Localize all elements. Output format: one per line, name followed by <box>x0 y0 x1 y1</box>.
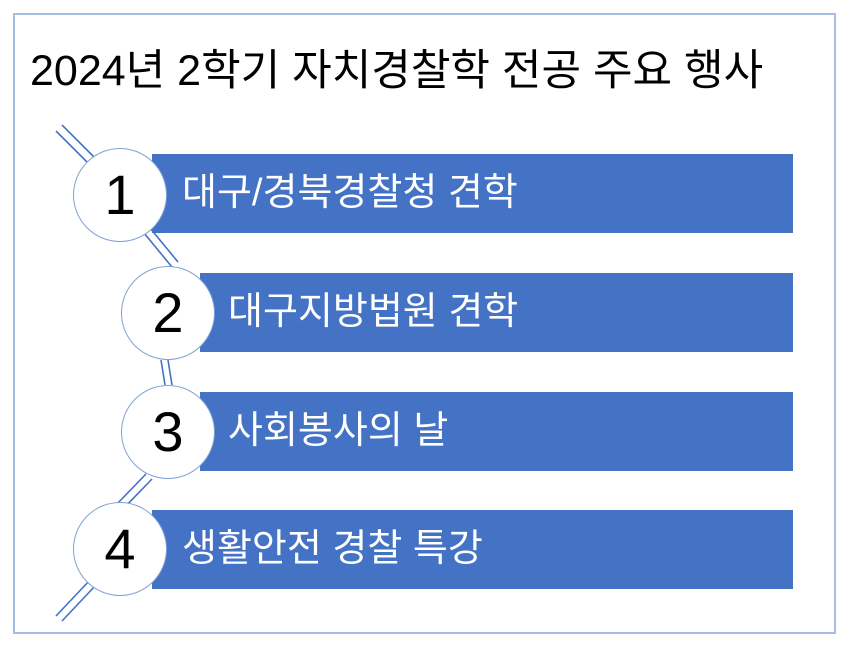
slide-canvas: 2024년 2학기 자치경찰학 전공 주요 행사 대구/경북경찰청 견학 1 대… <box>0 0 848 649</box>
step-number-1: 1 <box>73 148 167 242</box>
step-number-4: 4 <box>73 502 167 596</box>
step-label-2: 대구지방법원 견학 <box>228 273 518 352</box>
step-label-4: 생활안전 경찰 특강 <box>182 510 483 589</box>
step-label-1: 대구/경북경찰청 견학 <box>182 154 518 233</box>
step-number-3: 3 <box>121 385 215 479</box>
step-label-3: 사회봉사의 날 <box>228 392 448 471</box>
page-title: 2024년 2학기 자치경찰학 전공 주요 행사 <box>30 42 820 100</box>
step-number-2: 2 <box>121 266 215 360</box>
